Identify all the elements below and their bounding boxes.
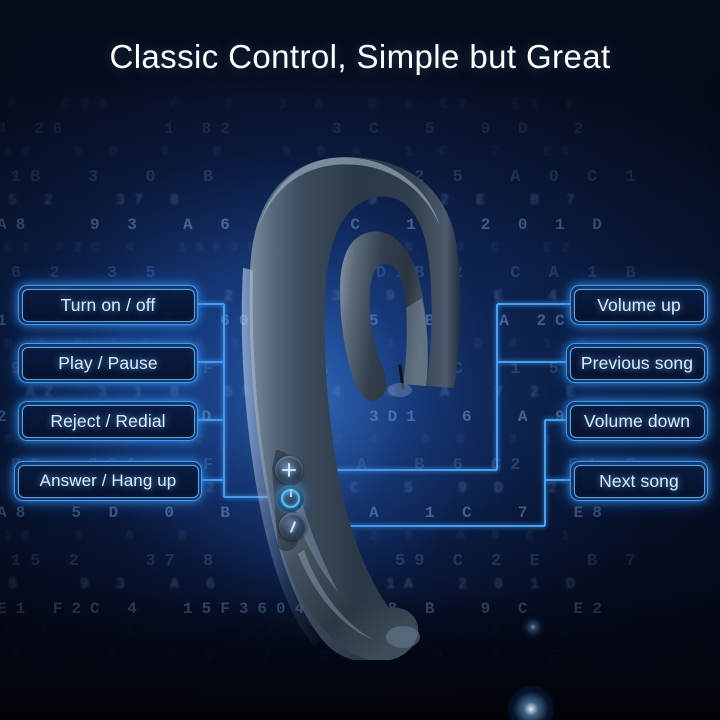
callout-label: Previous song xyxy=(581,353,693,374)
callout-label: Volume up xyxy=(597,295,681,316)
page-title: Classic Control, Simple but Great xyxy=(0,38,720,76)
callout-volume-down[interactable]: Volume down xyxy=(566,401,708,441)
callout-next-song[interactable]: Next song xyxy=(570,461,708,501)
callout-answer-hang-up[interactable]: Answer / Hang up xyxy=(14,461,202,501)
callout-play-pause[interactable]: Play / Pause xyxy=(18,343,198,383)
minus-icon xyxy=(286,520,300,534)
earphone-product-image xyxy=(240,150,470,660)
callout-label: Next song xyxy=(599,471,679,492)
callout-previous-song[interactable]: Previous song xyxy=(566,343,708,383)
callout-label: Reject / Redial xyxy=(50,411,165,432)
callout-label: Turn on / off xyxy=(61,295,156,316)
callout-turn-on-off[interactable]: Turn on / off xyxy=(18,285,198,325)
plus-button[interactable] xyxy=(275,456,303,484)
callout-volume-up[interactable]: Volume up xyxy=(570,285,708,325)
power-icon xyxy=(281,489,300,508)
power-button[interactable] xyxy=(277,485,304,512)
callout-label: Volume down xyxy=(584,411,690,432)
minus-button[interactable] xyxy=(279,513,306,540)
callout-reject-redial[interactable]: Reject / Redial xyxy=(18,401,198,441)
earphone-silhouette xyxy=(240,150,470,660)
infographic-canvas: BF C0A F 8 3 A B 6 C2 E1 F4 26 1 82 3 C … xyxy=(0,0,720,720)
callout-label: Play / Pause xyxy=(58,353,157,374)
plus-icon xyxy=(282,463,296,477)
callout-label: Answer / Hang up xyxy=(40,471,177,491)
